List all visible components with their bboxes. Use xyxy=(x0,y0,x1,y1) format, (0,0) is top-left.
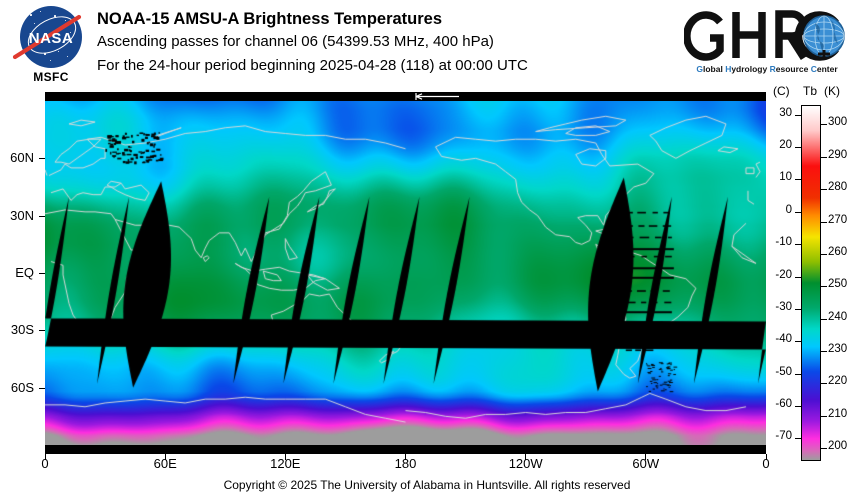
latitude-tick-label: EQ xyxy=(0,265,34,280)
colorbar-kelvin-tick xyxy=(821,189,827,190)
colorbar-celsius-label: -70 xyxy=(764,430,792,442)
colorbar-celsius-label: -20 xyxy=(764,269,792,281)
colorbar-kelvin-label: 220 xyxy=(828,375,854,387)
colorbar-unit-kelvin: (K) xyxy=(824,84,840,98)
latitude-tick xyxy=(39,388,45,389)
latitude-tick xyxy=(39,273,45,274)
colorbar-celsius-label: 0 xyxy=(764,204,792,216)
latitude-tick xyxy=(39,330,45,331)
latitude-tick-label: 60N xyxy=(0,150,34,165)
colorbar-panel[interactable]: (C) Tb (K) 3020100-10-20-30-40-50-60-703… xyxy=(772,84,854,464)
colorbar-celsius-tick xyxy=(795,115,801,116)
colorbar-kelvin-label: 240 xyxy=(828,311,854,323)
colorbar-unit-celsius: (C) xyxy=(773,84,790,98)
colorbar-variable-label: Tb xyxy=(803,84,817,98)
longitude-tick-label: 60E xyxy=(135,456,195,471)
colorbar-celsius-label: 30 xyxy=(764,107,792,119)
colorbar-kelvin-label: 280 xyxy=(828,181,854,193)
colorbar-celsius-tick xyxy=(795,212,801,213)
colorbar-celsius-label: -40 xyxy=(764,333,792,345)
colorbar-kelvin-label: 230 xyxy=(828,343,854,355)
colorbar-celsius-tick xyxy=(795,147,801,148)
colorbar-kelvin-tick xyxy=(821,416,827,417)
ghrc-wordmark-icon xyxy=(684,6,850,64)
colorbar-celsius-label: -10 xyxy=(764,236,792,248)
colorbar-celsius-tick xyxy=(795,438,801,439)
colorbar-celsius-label: 10 xyxy=(764,171,792,183)
colorbar-celsius-tick xyxy=(795,244,801,245)
colorbar-celsius-tick xyxy=(795,309,801,310)
latitude-tick-label: 30N xyxy=(0,208,34,223)
colorbar-kelvin-label: 300 xyxy=(828,116,854,128)
colorbar-celsius-label: -60 xyxy=(764,398,792,410)
longitude-tick-label: 180 xyxy=(376,456,436,471)
colorbar-kelvin-label: 210 xyxy=(828,408,854,420)
colorbar-celsius-tick xyxy=(795,341,801,342)
colorbar-kelvin-tick xyxy=(821,383,827,384)
latitude-tick-label: 30S xyxy=(0,322,34,337)
nasa-center-label: MSFC xyxy=(14,70,88,84)
colorbar-celsius-tick xyxy=(795,179,801,180)
latitude-tick xyxy=(39,158,45,159)
colorbar-celsius-tick xyxy=(795,277,801,278)
longitude-tick-label: 0 xyxy=(15,456,75,471)
colorbar-kelvin-label: 270 xyxy=(828,214,854,226)
colorbar-celsius-label: -50 xyxy=(764,366,792,378)
colorbar-kelvin-tick xyxy=(821,319,827,320)
page-subtitle-period: For the 24-hour period beginning 2025-04… xyxy=(97,54,528,78)
page-header: NASA MSFC NOAA-15 AMSU-A Brightness Temp… xyxy=(0,0,854,92)
ghrc-logo: Global Hydrology Resource Center xyxy=(684,6,850,84)
nasa-wordmark: NASA xyxy=(20,30,82,47)
colorbar-kelvin-tick xyxy=(821,448,827,449)
colorbar-kelvin-label: 200 xyxy=(828,440,854,452)
colorbar-gradient-fill xyxy=(802,106,820,460)
colorbar-kelvin-tick xyxy=(821,254,827,255)
colorbar-kelvin-tick xyxy=(821,351,827,352)
colorbar-celsius-tick xyxy=(795,406,801,407)
colorbar-kelvin-label: 290 xyxy=(828,149,854,161)
map-panel[interactable] xyxy=(45,92,766,454)
longitude-tick-label: 120W xyxy=(496,456,556,471)
latitude-tick-label: 60S xyxy=(0,380,34,395)
colorbar-kelvin-tick xyxy=(821,124,827,125)
colorbar-kelvin-label: 260 xyxy=(828,246,854,258)
header-titles: NOAA-15 AMSU-A Brightness Temperatures A… xyxy=(97,8,528,78)
colorbar-celsius-label: 20 xyxy=(764,139,792,151)
colorbar-kelvin-tick xyxy=(821,286,827,287)
page-title: NOAA-15 AMSU-A Brightness Temperatures xyxy=(97,8,528,30)
colorbar-kelvin-label: 250 xyxy=(828,278,854,290)
colorbar-kelvin-tick xyxy=(821,222,827,223)
longitude-tick-label: 60W xyxy=(616,456,676,471)
colorbar-celsius-tick xyxy=(795,374,801,375)
amsu-brightness-temperature-page: NASA MSFC NOAA-15 AMSU-A Brightness Temp… xyxy=(0,0,854,502)
latitude-tick xyxy=(39,216,45,217)
colorbar-gradient[interactable] xyxy=(801,105,821,461)
page-subtitle-channel: Ascending passes for channel 06 (54399.5… xyxy=(97,30,528,54)
longitude-tick-label: 120E xyxy=(255,456,315,471)
copyright-notice: Copyright © 2025 The University of Alaba… xyxy=(0,478,854,492)
ghrc-tagline: Global Hydrology Resource Center xyxy=(686,64,848,74)
orbital-data-gaps xyxy=(45,101,766,445)
map-canvas[interactable] xyxy=(45,101,766,445)
nasa-logo: NASA MSFC xyxy=(14,6,88,90)
colorbar-kelvin-tick xyxy=(821,157,827,158)
swath-direction-marker-icon xyxy=(411,92,463,101)
colorbar-celsius-label: -30 xyxy=(764,301,792,313)
